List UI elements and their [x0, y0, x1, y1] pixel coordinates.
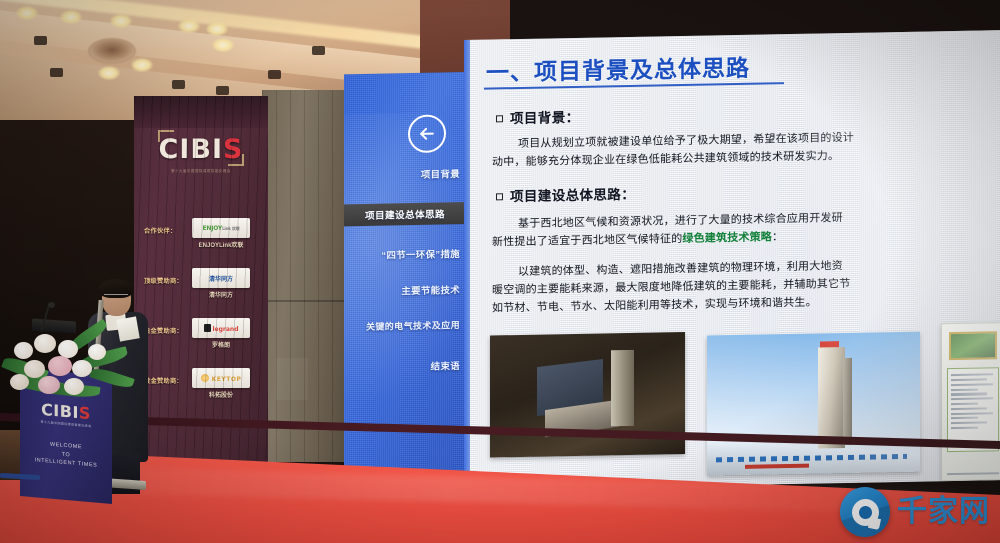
glasses-icon [104, 294, 128, 300]
sponsor-row: 合作伙伴： ENJOYLink 欢联 ENJOYLink欢联 [140, 214, 264, 260]
stage-scene: CIBIS 第十九届中国国际建筑智能化峰会 合作伙伴： ENJOYLink 欢联… [0, 0, 1000, 543]
sponsor-tier-label: 顶级赞助商： [144, 276, 190, 285]
nav-item-four-savings[interactable]: “四节一环保”措施 [348, 246, 460, 262]
certificate-image [949, 331, 996, 360]
ceiling-vent [50, 68, 63, 77]
led-slide-panel: 一、项目背景及总体思路 项目背景： 项目从规划立项就被建设单位给予了极大期望，希… [464, 30, 1000, 490]
sponsor-logo-text: KEYTOP [212, 376, 242, 383]
microphone-icon [48, 302, 55, 308]
nav-item-energy-tech[interactable]: 主要节能技术 [348, 282, 460, 298]
downlight-icon [98, 66, 120, 80]
downlight-icon [178, 19, 200, 33]
certificate-document [941, 322, 1000, 481]
q-chat-bubble-icon [840, 487, 890, 537]
podium-welcome-text: WELCOME TO INTELLIGENT TIMES [20, 438, 112, 472]
nav-item-overall-approach[interactable]: 项目建设总体思路 [344, 202, 466, 226]
wall-seam [262, 300, 344, 302]
sponsor-logo-text: ENJOY [202, 225, 222, 232]
ceiling-vent [268, 70, 281, 79]
sponsor-tier-label: 白金赞助商： [144, 326, 190, 335]
speaker-notes-paper [116, 316, 140, 341]
led-nav-panel: 项目背景 项目建设总体思路 “四节一环保”措施 主要节能技术 关键的电气技术及应… [344, 72, 466, 474]
ceiling-round-fixture [88, 38, 136, 64]
cibis-logo-accent: S [223, 134, 243, 165]
slide-left-accent-bar [464, 40, 470, 490]
sponsor-logo-text: 清华同方 [209, 274, 233, 283]
downlight-icon [212, 38, 234, 52]
sponsor-board: CIBIS 第十九届中国国际建筑智能化峰会 合作伙伴： ENJOYLink 欢联… [134, 96, 268, 462]
wall-patch [276, 358, 308, 400]
board-top-shadow [134, 96, 268, 128]
sponsor-logo-suffix: Link 欢联 [222, 226, 239, 231]
sponsor-logo-text: legrand [213, 326, 239, 333]
certificate-caption-bar [947, 472, 999, 475]
bullet-square-icon [496, 193, 503, 200]
nav-item-project-background[interactable]: 项目背景 [348, 166, 460, 182]
paragraph-text: 如节材、节电、节水、太阳能利用等技术，实现与环境和谐共生。 [492, 296, 817, 318]
downlight-icon [131, 58, 153, 72]
paragraph-text: 基于西北地区气候和资源状况，进行了大量的技术综合应用开发研 [518, 211, 843, 233]
highlight-text: 绿色建筑技术策略 [682, 231, 772, 245]
bullet-square-icon [496, 115, 503, 122]
sponsor-logo-card: legrand [192, 318, 250, 338]
paragraph-text: 动中，能够充分体现企业在绿色低能耗公共建筑领域的技术研发实力。 [492, 149, 839, 171]
cibis-logo-main: CIBI [159, 134, 224, 165]
section-heading-background: 项目背景： [496, 106, 580, 128]
downlight-icon [110, 14, 132, 28]
downlight-icon [16, 6, 38, 20]
section-heading-approach: 项目建设总体思路： [496, 183, 635, 206]
sponsor-logo-card: KEYTOP [192, 368, 250, 388]
sponsor-name-cn: 清华同方 [192, 290, 250, 299]
back-arrow-icon[interactable] [408, 114, 446, 153]
slide-title: 一、项目背景及总体思路 [486, 49, 750, 88]
watermark: 千家网 [840, 487, 990, 537]
ceiling-vent [216, 86, 229, 95]
paragraph-text-highlight: 新性提出了适宜于西北地区气候特征的绿色建筑技术策略： [492, 230, 783, 251]
downlight-icon [206, 22, 228, 36]
ceiling-vent [312, 46, 325, 55]
sponsor-row: 黄金赞助商： KEYTOP 科拓股份 [140, 364, 264, 410]
sponsor-name-cn: 罗格朗 [192, 340, 250, 349]
sponsor-row: 白金赞助商： legrand 罗格朗 [140, 314, 264, 360]
tower-rendering-photo [707, 332, 920, 476]
nav-item-electrical-tech[interactable]: 关键的电气技术及应用 [348, 318, 460, 333]
sponsor-logo-card: ENJOYLink 欢联 [192, 218, 250, 238]
sponsor-name-cn: ENJOYLink欢联 [192, 240, 250, 249]
cibis-logo: CIBIS [134, 136, 268, 163]
sponsor-tier-label: 合作伙伴： [144, 226, 190, 235]
cibis-logo-subtitle: 第十九届中国国际建筑智能化峰会 [134, 168, 268, 173]
sponsor-logo-card: 清华同方 [192, 268, 250, 288]
nav-item-conclusion[interactable]: 结束语 [348, 358, 460, 374]
sponsor-row: 顶级赞助商： 清华同方 清华同方 [140, 264, 264, 310]
ceiling-vent [172, 80, 185, 89]
sponsor-tier-label: 黄金赞助商： [144, 376, 190, 385]
logo-bracket-frame [158, 130, 244, 166]
sponsor-name-cn: 科拓股份 [192, 390, 250, 399]
watermark-brand: 千家网 [897, 497, 990, 527]
downlight-icon [60, 10, 82, 24]
olive-wall-panel [262, 90, 344, 462]
slide-content: 一、项目背景及总体思路 项目背景： 项目从规划立项就被建设单位给予了极大期望，希… [464, 30, 1000, 490]
ceiling-vent [34, 36, 47, 45]
